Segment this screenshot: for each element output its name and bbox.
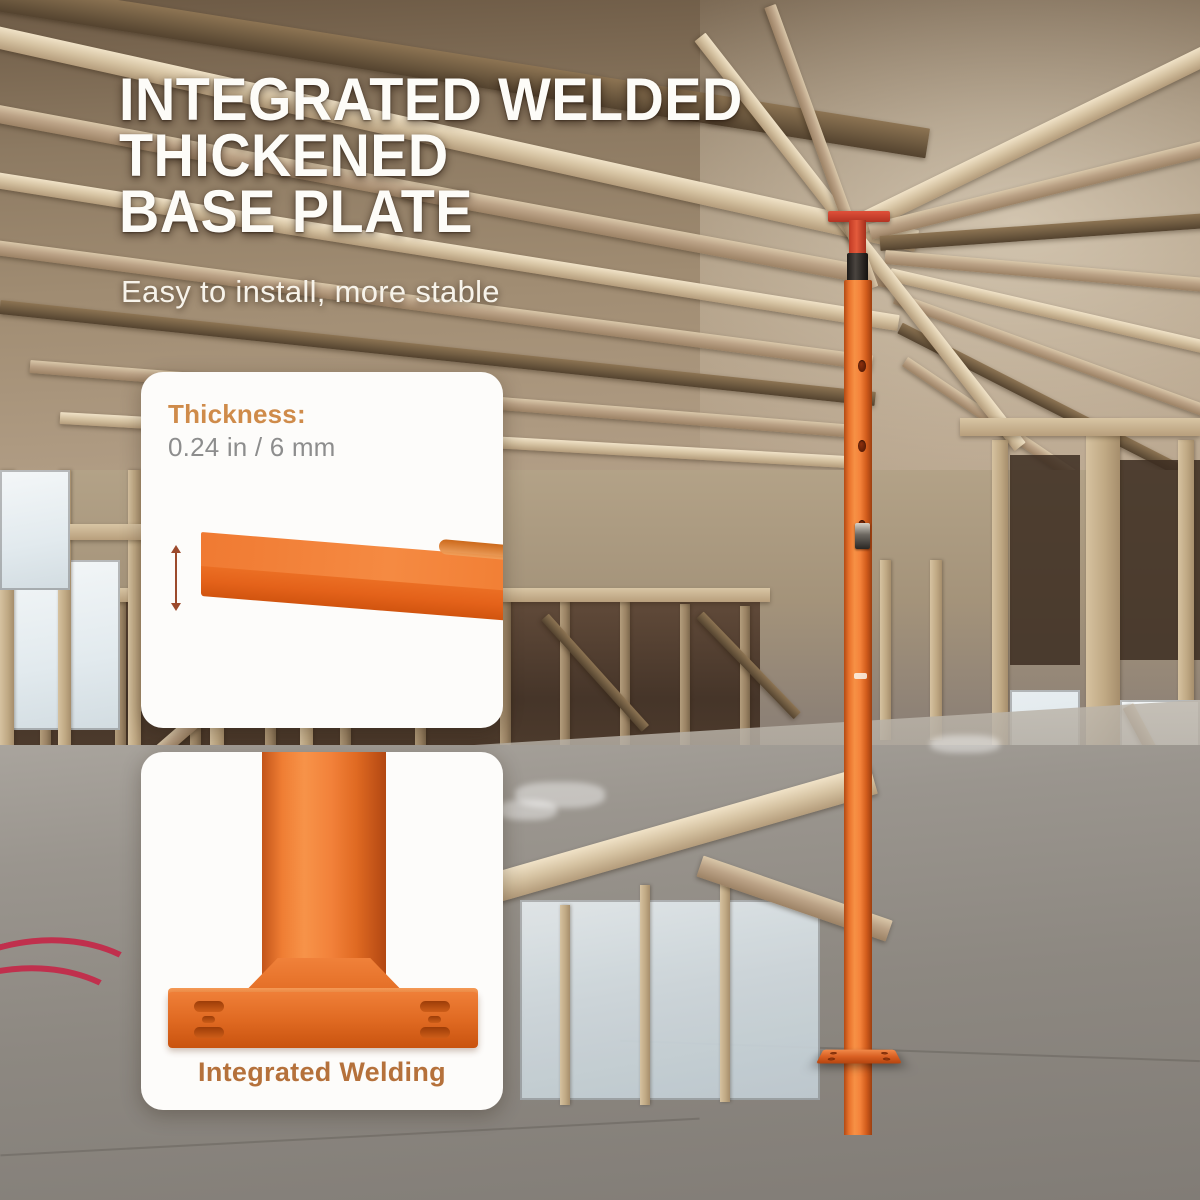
wall-stud [680, 604, 690, 754]
base-plate-bolt-hole [428, 1016, 441, 1023]
base-plate-bolt-hole [202, 1016, 215, 1023]
wall-stud [720, 872, 730, 1102]
wall-top-plate [960, 418, 1200, 436]
post-base-plate [816, 1050, 902, 1064]
base-plate-bolt-hole [827, 1058, 835, 1061]
floor-light-patch [497, 800, 557, 820]
base-plate-bolt-hole [420, 1001, 450, 1012]
callout-card-welding: Integrated Welding [141, 752, 503, 1110]
base-plate-bolt-hole [194, 1027, 224, 1038]
base-plate-edge-illustration [201, 532, 503, 662]
wall-stud [640, 885, 650, 1105]
thickness-value: 0.24 in / 6 mm [168, 432, 336, 463]
post-tube [844, 280, 872, 1135]
base-plate-bolt-hole [882, 1058, 890, 1061]
post-label-mark [854, 673, 867, 679]
page-title: INTEGRATED WELDED THICKENED BASE PLATE [119, 72, 1049, 239]
thickness-label: Thickness: [168, 399, 306, 430]
adjustable-jack-post [822, 205, 942, 1105]
product-feature-image: INTEGRATED WELDED THICKENED BASE PLATE E… [0, 0, 1200, 1200]
base-plate-bolt-hole [420, 1027, 450, 1038]
base-plate-bolt-hole [830, 1052, 838, 1054]
wall-stud [560, 600, 570, 760]
wall-cavity [1010, 455, 1080, 665]
post-locking-pin [855, 523, 870, 549]
wall-stud [560, 905, 570, 1105]
welded-base-illustration [141, 752, 503, 1052]
thickness-dimension-arrow-icon [175, 552, 177, 604]
page-subtitle: Easy to install, more stable [121, 274, 921, 310]
post-adjustment-hole [858, 440, 866, 452]
post-tube-detail [262, 752, 386, 978]
base-plate-bolt-hole [881, 1052, 889, 1054]
base-plate-detail [168, 992, 478, 1048]
callout-card-thickness: Thickness: 0.24 in / 6 mm [141, 372, 503, 728]
base-plate-bolt-hole [194, 1001, 224, 1012]
wall-stud [620, 602, 630, 758]
welding-caption: Integrated Welding [141, 1057, 503, 1088]
window-opening [0, 470, 70, 590]
post-adjustment-hole [858, 360, 866, 372]
